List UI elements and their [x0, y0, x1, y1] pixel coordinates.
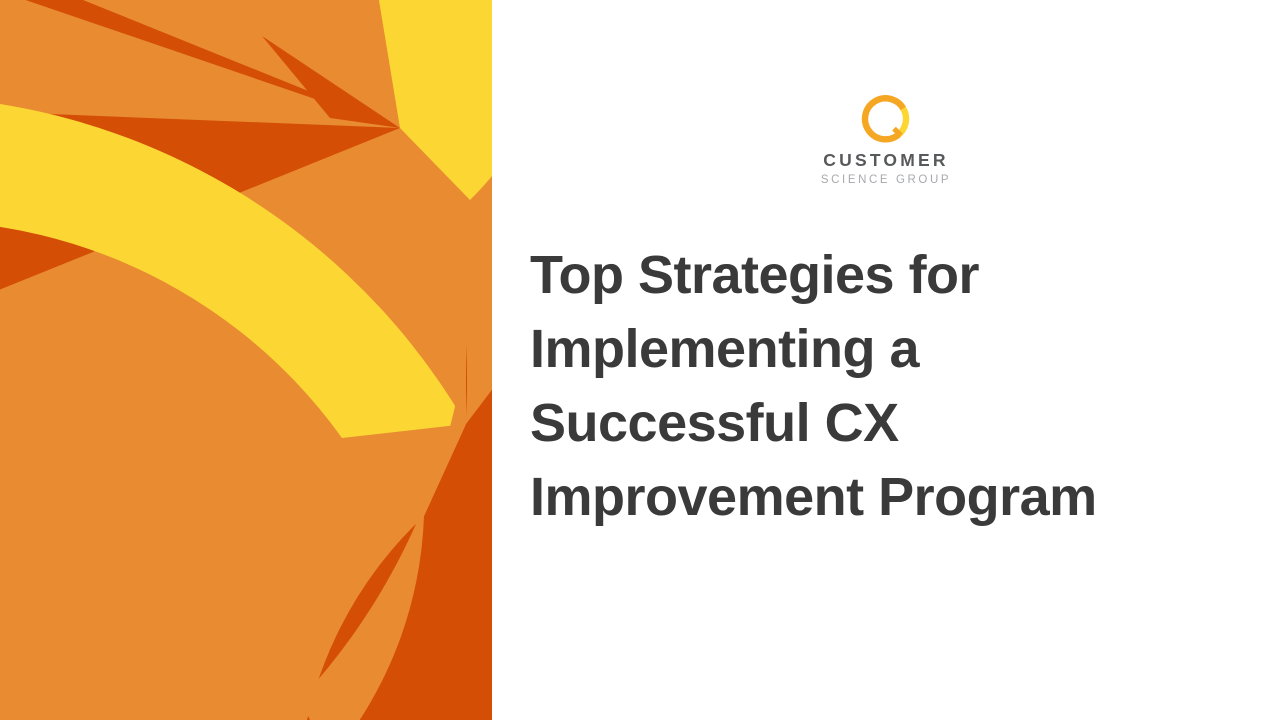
logo-company-tagline: SCIENCE GROUP	[821, 175, 951, 187]
logo-company-name: CUSTOMER	[821, 152, 951, 170]
decorative-art-panel	[0, 0, 492, 720]
brand-logo: CUSTOMER SCIENCE GROUP	[492, 92, 1280, 186]
content-column: CUSTOMER SCIENCE GROUP Top Strategies fo…	[492, 0, 1280, 720]
headline-line-4: Improvement Program	[530, 460, 1220, 534]
title-slide: CUSTOMER SCIENCE GROUP Top Strategies fo…	[0, 0, 1280, 720]
headline-line-2: Implementing a	[530, 312, 1220, 386]
logo-wordmark: CUSTOMER SCIENCE GROUP	[821, 152, 951, 186]
headline-line-1: Top Strategies for	[530, 238, 1220, 312]
logo-ring-icon	[860, 92, 912, 144]
headline-line-3: Successful CX	[530, 386, 1220, 460]
page-title: Top Strategies for Implementing a Succes…	[530, 238, 1220, 534]
